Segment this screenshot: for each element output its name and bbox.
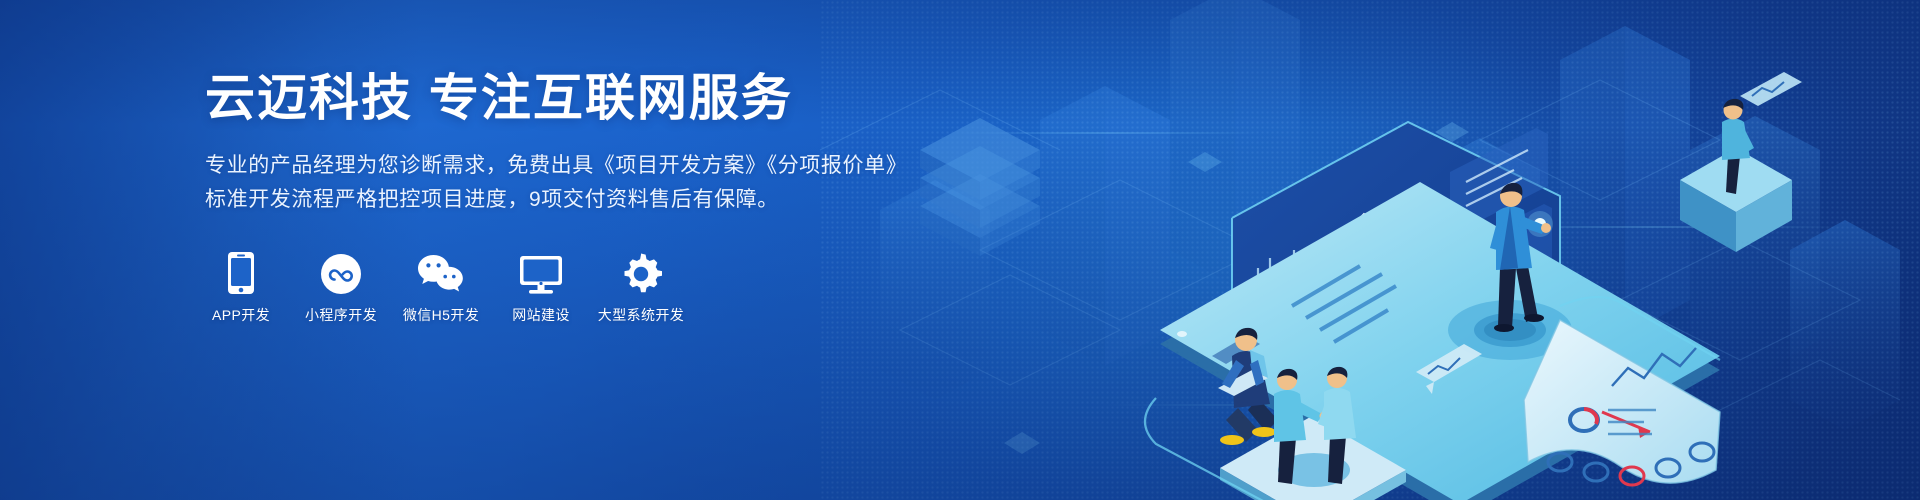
service-label-mini-program: 小程序开发 (305, 308, 377, 322)
service-item-app[interactable]: APP开发 (205, 251, 277, 322)
gear-icon (620, 251, 662, 295)
isometric-data-dashboard-illustration (860, 0, 1920, 500)
mini-program-icon (320, 251, 362, 295)
service-label-wechat-h5: 微信H5开发 (403, 308, 479, 322)
service-item-wechat-h5[interactable]: 微信H5开发 (405, 251, 477, 322)
wechat-chat-icon (416, 251, 466, 295)
illustration-container (860, 0, 1920, 500)
mobile-phone-icon (226, 251, 256, 295)
banner-content: 云迈科技 专注互联网服务 专业的产品经理为您诊断需求，免费出具《项目开发方案》《… (205, 70, 925, 322)
subtitle-block: 专业的产品经理为您诊断需求，免费出具《项目开发方案》《分项报价单》 标准开发流程… (205, 149, 925, 217)
subtitle-line-2: 标准开发流程严格把控项目进度，9项交付资料售后有保障。 (205, 183, 925, 217)
hero-banner: 云迈科技 专注互联网服务 专业的产品经理为您诊断需求，免费出具《项目开发方案》《… (0, 0, 1920, 500)
subtitle-line-1: 专业的产品经理为您诊断需求，免费出具《项目开发方案》《分项报价单》 (205, 149, 925, 183)
desktop-monitor-icon (519, 251, 563, 295)
service-icon-row: APP开发 小程序开发 (205, 251, 925, 322)
person-on-cube (1680, 72, 1802, 252)
service-label-website: 网站建设 (512, 308, 570, 322)
service-item-mini-program[interactable]: 小程序开发 (305, 251, 377, 322)
server-stack (920, 118, 1040, 256)
service-label-large-system: 大型系统开发 (598, 308, 684, 322)
floating-chart-card (1740, 72, 1802, 106)
service-item-website[interactable]: 网站建设 (505, 251, 577, 322)
service-label-app: APP开发 (212, 308, 270, 322)
service-item-large-system[interactable]: 大型系统开发 (605, 251, 677, 322)
page-title: 云迈科技 专注互联网服务 (205, 70, 925, 127)
